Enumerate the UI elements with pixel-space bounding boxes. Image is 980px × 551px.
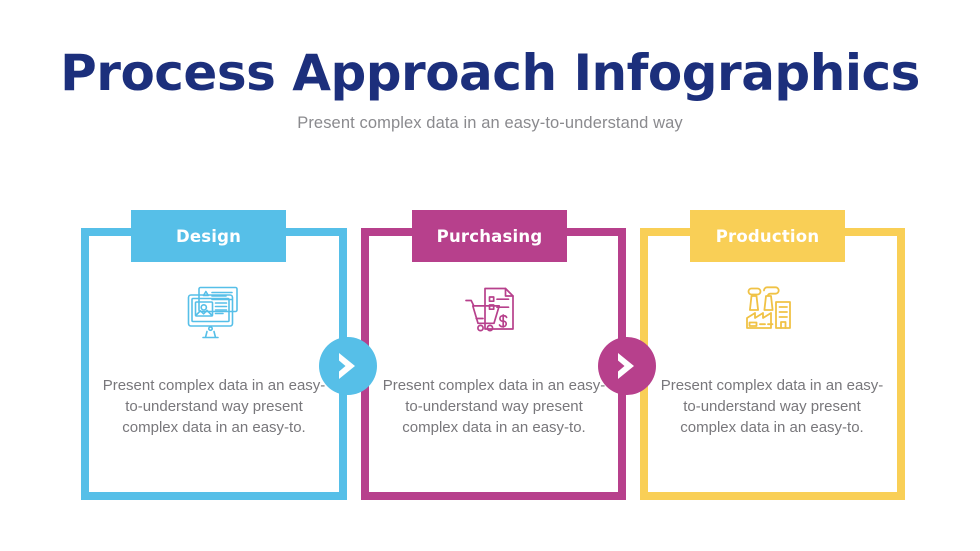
step-body-production: Present complex data in an easy-to-under… [657,375,887,438]
process-steps-row: Design [0,0,980,551]
connector-arrow-1[interactable] [319,337,377,395]
step-card-production[interactable] [640,228,905,500]
step-label-purchasing: Purchasing [437,227,543,246]
step-body-purchasing: Present complex data in an easy-to-under… [379,375,609,438]
step-label-design: Design [176,227,241,246]
step-label-production: Production [716,227,820,246]
connector-arrow-2[interactable] [598,337,656,395]
chevron-right-icon [614,351,640,381]
factory-icon [737,278,807,348]
step-card-purchasing[interactable] [361,228,626,500]
step-body-design: Present complex data in an easy-to-under… [99,375,329,438]
step-header-tab-design[interactable]: Design [131,210,286,262]
chevron-right-icon [335,351,361,381]
step-card-design[interactable] [81,228,347,500]
step-header-tab-production[interactable]: Production [690,210,845,262]
step-header-tab-purchasing[interactable]: Purchasing [412,210,567,262]
shopping-cart-invoice-icon [458,278,528,348]
monitor-webpage-icon [179,278,249,348]
